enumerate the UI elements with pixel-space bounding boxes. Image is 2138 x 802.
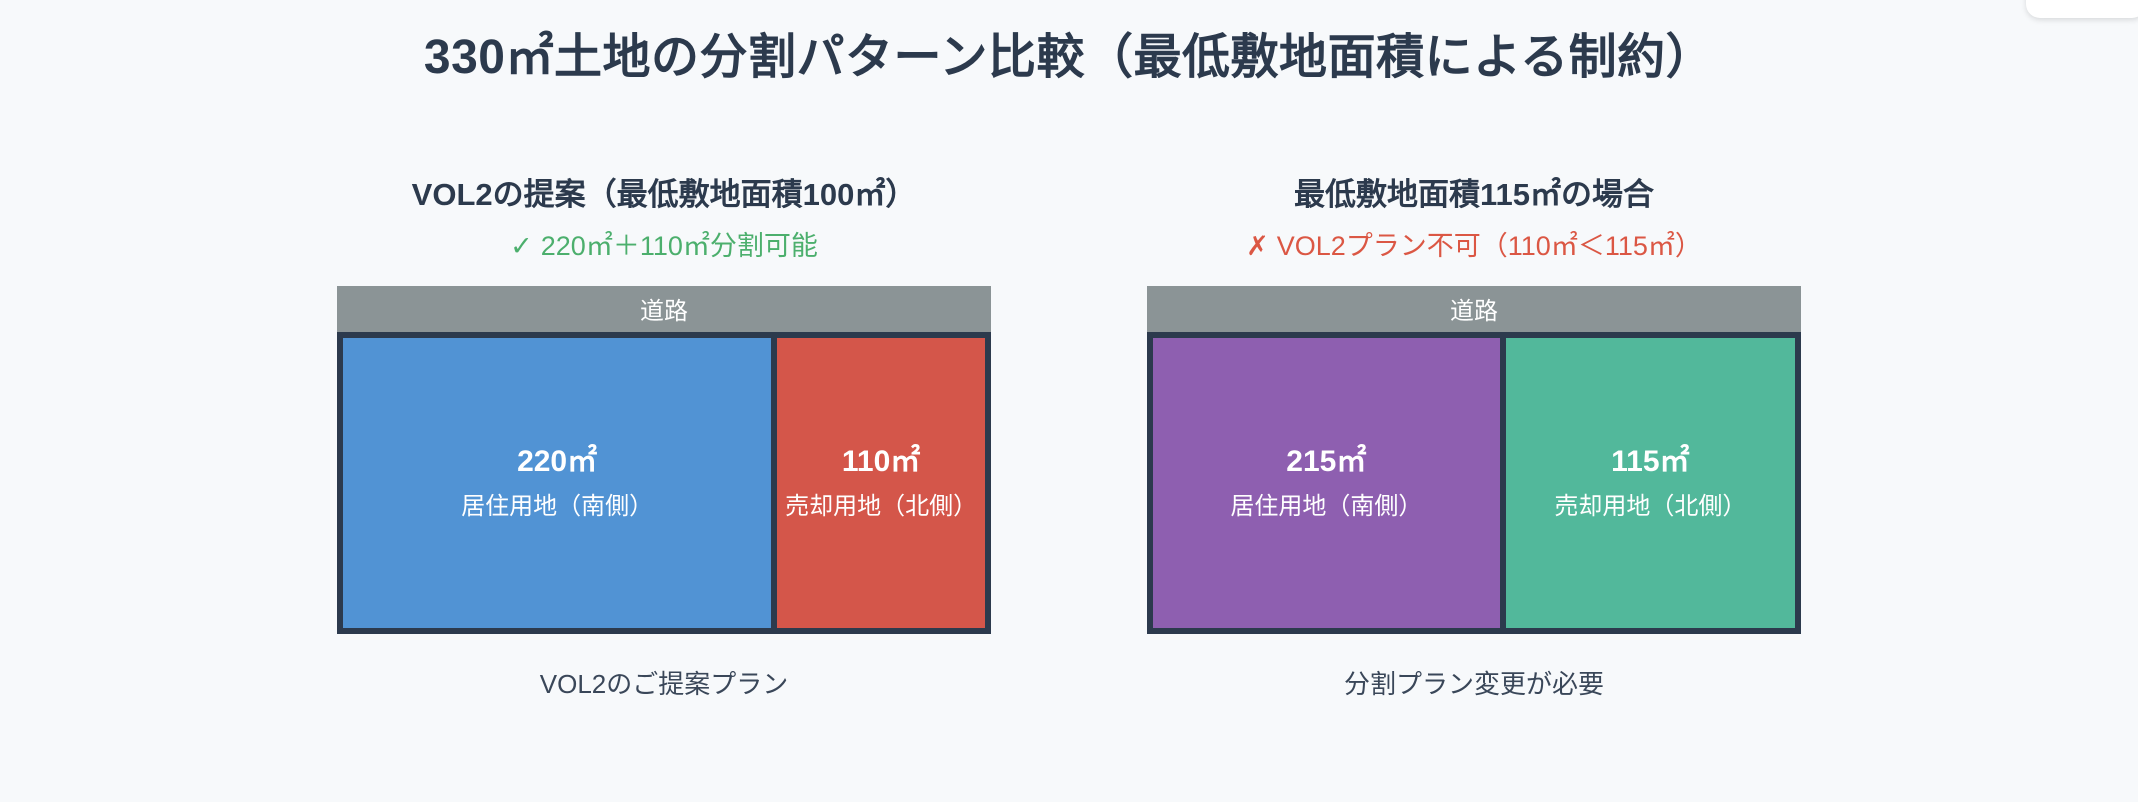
lot-block-sale: 115㎡ 売却用地（北側） [1500, 338, 1795, 628]
lot-row: 215㎡ 居住用地（南側） 115㎡ 売却用地（北側） [1147, 332, 1801, 634]
lot-block-residential: 215㎡ 居住用地（南側） [1153, 338, 1500, 628]
lot-block-residential: 220㎡ 居住用地（南側） [343, 338, 771, 628]
corner-card-edge [2026, 0, 2138, 18]
lot-area: 220㎡ [517, 445, 597, 480]
slide-canvas: 330㎡土地の分割パターン比較（最低敷地面積による制約） VOL2の提案（最低敷… [0, 0, 2138, 802]
lot-diagram: 道路 220㎡ 居住用地（南側） 110㎡ 売却用地（北側） [337, 286, 991, 634]
panel-heading: VOL2の提案（最低敷地面積100㎡） [412, 178, 917, 212]
lot-area: 110㎡ [842, 445, 920, 480]
page-title: 330㎡土地の分割パターン比較（最低敷地面積による制約） [0, 17, 2138, 87]
panel-status-note: ✗VOL2プラン不可（110㎡＜115㎡） [1246, 232, 1702, 262]
lot-label: 売却用地（北側） [1554, 493, 1746, 521]
lot-label: 売却用地（北側） [785, 493, 977, 521]
lot-row: 220㎡ 居住用地（南側） 110㎡ 売却用地（北側） [337, 332, 991, 634]
cross-icon: ✗ [1246, 231, 1269, 261]
panel-caption: 分割プラン変更が必要 [1344, 664, 1604, 701]
panel-caption: VOL2のご提案プラン [540, 664, 789, 701]
lot-label: 居住用地（南側） [1230, 493, 1422, 521]
lot-block-sale: 110㎡ 売却用地（北側） [771, 338, 985, 628]
panel-vol2-proposal: VOL2の提案（最低敷地面積100㎡） ✓220㎡＋110㎡分割可能 道路 22… [337, 178, 991, 701]
comparison-panels: VOL2の提案（最低敷地面積100㎡） ✓220㎡＋110㎡分割可能 道路 22… [0, 178, 2138, 701]
road-label: 道路 [640, 291, 688, 326]
panel-status-note: ✓220㎡＋110㎡分割可能 [510, 232, 818, 262]
road-strip: 道路 [1147, 286, 1801, 332]
lot-area: 115㎡ [1611, 445, 1689, 480]
road-label: 道路 [1450, 291, 1498, 326]
check-icon: ✓ [510, 231, 533, 261]
lot-area: 215㎡ [1286, 445, 1366, 480]
panel-note-text: VOL2プラン不可（110㎡＜115㎡） [1277, 231, 1702, 261]
panel-min-area-115: 最低敷地面積115㎡の場合 ✗VOL2プラン不可（110㎡＜115㎡） 道路 2… [1147, 178, 1801, 701]
panel-note-text: 220㎡＋110㎡分割可能 [541, 231, 818, 261]
road-strip: 道路 [337, 286, 991, 332]
panel-heading: 最低敷地面積115㎡の場合 [1294, 178, 1654, 212]
lot-diagram: 道路 215㎡ 居住用地（南側） 115㎡ 売却用地（北側） [1147, 286, 1801, 634]
lot-label: 居住用地（南側） [461, 493, 653, 521]
